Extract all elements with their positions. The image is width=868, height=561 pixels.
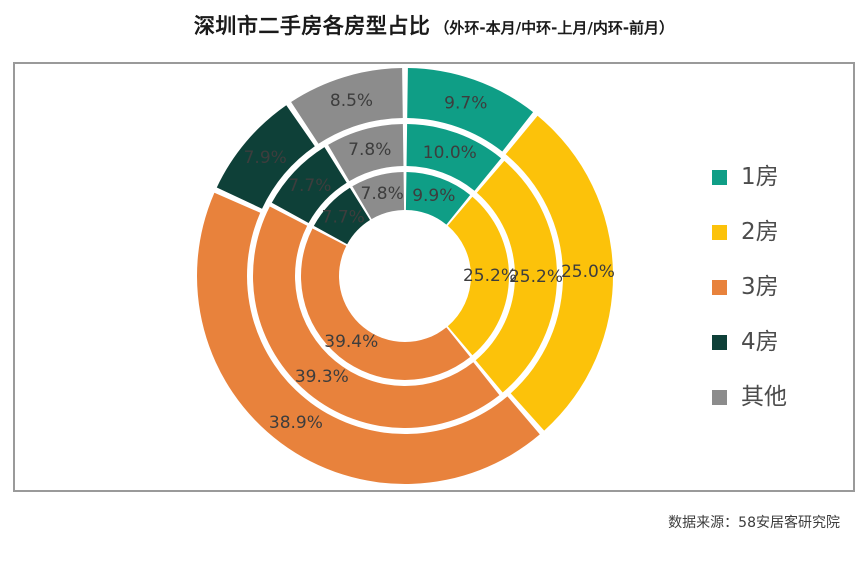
legend-label-2: 2房 <box>741 221 779 244</box>
slice-label-3房-middle: 39.3% <box>295 367 349 387</box>
legend-item-4[interactable]: 4房 <box>712 315 842 370</box>
slice-label-4房-inner: 7.7% <box>322 208 365 228</box>
legend-swatch-icon-3 <box>712 280 727 295</box>
donut-svg: 9.7%25.0%38.9%7.9%8.5%10.0%25.2%39.3%7.7… <box>175 58 635 498</box>
slice-label-1房-outer: 9.7% <box>444 93 487 113</box>
slice-label-3房-outer: 38.9% <box>269 413 323 433</box>
legend-swatch-icon-2 <box>712 225 727 240</box>
legend-item-2[interactable]: 2房 <box>712 205 842 260</box>
slice-label-4房-middle: 7.7% <box>288 176 331 196</box>
slice-label-其他-inner: 7.8% <box>361 184 404 204</box>
slice-label-1房-inner: 9.9% <box>412 186 455 206</box>
legend-swatch-icon-5 <box>712 390 727 405</box>
legend-swatch-icon-1 <box>712 170 727 185</box>
multi-ring-donut-chart: 9.7%25.0%38.9%7.9%8.5%10.0%25.2%39.3%7.7… <box>175 58 635 498</box>
slice-label-4房-outer: 7.9% <box>244 148 287 168</box>
slice-label-2房-inner: 25.2% <box>463 266 517 286</box>
legend: 1房 2房 3房 4房 其他 <box>712 150 842 425</box>
slice-label-其他-middle: 7.8% <box>348 140 391 160</box>
legend-item-3[interactable]: 3房 <box>712 260 842 315</box>
legend-item-1[interactable]: 1房 <box>712 150 842 205</box>
page-title: 深圳市二手房各房型占比（外环-本月/中环-上月/内环-前月） <box>0 10 868 40</box>
slice-label-2房-middle: 25.2% <box>509 267 563 287</box>
slice-label-1房-middle: 10.0% <box>423 143 477 163</box>
slice-label-2房-outer: 25.0% <box>561 262 615 282</box>
chart-title-main: 深圳市二手房各房型占比 <box>194 14 431 38</box>
legend-item-5[interactable]: 其他 <box>712 370 842 425</box>
legend-label-5: 其他 <box>741 386 787 409</box>
legend-swatch-icon-4 <box>712 335 727 350</box>
legend-label-1: 1房 <box>741 166 779 189</box>
legend-label-4: 4房 <box>741 331 779 354</box>
slice-label-其他-outer: 8.5% <box>330 91 373 111</box>
slice-label-3房-inner: 39.4% <box>324 332 378 352</box>
chart-title-subtitle: （外环-本月/中环-上月/内环-前月） <box>434 19 674 37</box>
source-note: 数据来源：58安居客研究院 <box>668 512 840 532</box>
legend-label-3: 3房 <box>741 276 779 299</box>
